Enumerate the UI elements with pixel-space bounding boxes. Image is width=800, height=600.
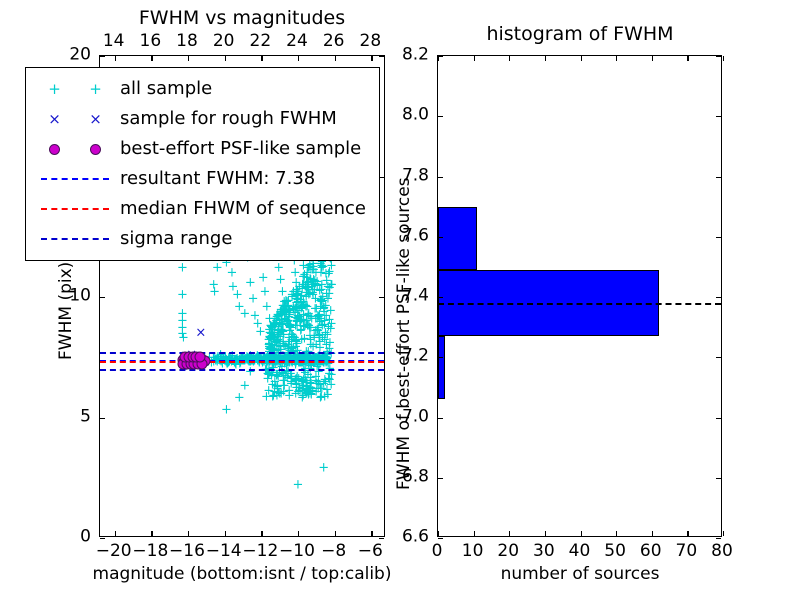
scatter-ytick-label: 20 bbox=[69, 47, 91, 64]
data-point-all-sample: + bbox=[269, 331, 280, 344]
legend-item-1: ××sample for rough FWHM bbox=[34, 104, 369, 134]
histogram-plot-area bbox=[438, 56, 721, 536]
histogram-axes bbox=[437, 55, 722, 537]
histogram-xtick bbox=[581, 56, 582, 61]
histogram-ytick bbox=[438, 177, 443, 178]
histogram-ytick-label: 6.6 bbox=[402, 529, 429, 546]
scatter-xtick-label: −8 bbox=[321, 543, 346, 560]
data-point-all-sample: + bbox=[234, 392, 245, 405]
legend-marker-dashed-line-icon bbox=[34, 194, 120, 224]
scatter-top-xtick-label: 28 bbox=[360, 33, 382, 50]
histogram-ytick bbox=[438, 478, 443, 479]
histogram-xtick bbox=[652, 56, 653, 61]
plus-icon: + bbox=[48, 82, 61, 97]
legend-marker-cross-icon: ×× bbox=[34, 104, 120, 134]
plus-icon: + bbox=[89, 82, 102, 97]
histogram-bar bbox=[438, 336, 445, 399]
histogram-xtick bbox=[581, 531, 582, 536]
histogram-ytick-label: 7.2 bbox=[402, 348, 429, 365]
histogram-ytick bbox=[438, 418, 443, 419]
dashdot-line-icon bbox=[41, 238, 109, 240]
legend-item-label: sigma range bbox=[120, 230, 232, 248]
scatter-xtick-label: −6 bbox=[358, 543, 383, 560]
scatter-reference-line-dashed bbox=[100, 361, 384, 363]
scatter-xtick-label: −10 bbox=[279, 543, 315, 560]
histogram-xaxis-label: number of sources bbox=[501, 566, 660, 583]
histogram-xtick bbox=[616, 56, 617, 61]
histogram-ytick bbox=[716, 116, 721, 117]
scatter-ytick-label: 5 bbox=[80, 408, 91, 425]
filled-circle-icon bbox=[90, 144, 101, 155]
scatter-xtick bbox=[115, 531, 116, 536]
histogram-xtick bbox=[616, 531, 617, 536]
cross-icon: × bbox=[48, 112, 61, 127]
histogram-ytick-label: 7.8 bbox=[402, 167, 429, 184]
scatter-ytick-label: 10 bbox=[69, 288, 91, 305]
histogram-xtick-label: 0 bbox=[432, 543, 443, 560]
histogram-xtick-label: 40 bbox=[569, 543, 591, 560]
histogram-reference-line bbox=[438, 303, 721, 305]
scatter-ytick bbox=[100, 297, 105, 298]
legend-marker-plus-icon: ++ bbox=[34, 74, 120, 104]
histogram-ytick-label: 8.2 bbox=[402, 47, 429, 64]
scatter-xtick bbox=[371, 531, 372, 536]
legend-item-label: median FHWM of sequence bbox=[120, 200, 366, 218]
scatter-xtick bbox=[151, 531, 152, 536]
histogram-ytick-label: 7.4 bbox=[402, 288, 429, 305]
scatter-top-xtick-label: 18 bbox=[176, 33, 198, 50]
data-point-rough-fwhm: × bbox=[195, 327, 206, 340]
scatter-xtick-label: −20 bbox=[96, 543, 132, 560]
scatter-ytick bbox=[100, 418, 105, 419]
legend-item-label: resultant FWHM: 7.38 bbox=[120, 170, 315, 188]
data-point-all-sample: + bbox=[318, 462, 329, 475]
histogram-ytick bbox=[438, 116, 443, 117]
histogram-xtick bbox=[723, 531, 724, 536]
scatter-top-xtick bbox=[151, 56, 152, 61]
scatter-top-xtick bbox=[225, 56, 226, 61]
histogram-xtick bbox=[474, 56, 475, 61]
legend-item-3: resultant FWHM: 7.38 bbox=[34, 164, 369, 194]
scatter-yaxis-label: FWHM (pix) bbox=[58, 262, 75, 360]
histogram-xtick bbox=[509, 56, 510, 61]
scatter-reference-line-dashdot bbox=[100, 352, 384, 354]
histogram-bar bbox=[438, 207, 477, 270]
cross-icon: × bbox=[89, 112, 102, 127]
scatter-xtick-label: −12 bbox=[242, 543, 278, 560]
histogram-xtick-label: 50 bbox=[604, 543, 626, 560]
histogram-xtick bbox=[474, 531, 475, 536]
scatter-top-xtick bbox=[335, 56, 336, 61]
scatter-top-xtick bbox=[371, 56, 372, 61]
data-point-all-sample: + bbox=[293, 478, 304, 491]
plot-legend: ++all sample××sample for rough FWHMbest-… bbox=[25, 67, 380, 261]
data-point-all-sample: + bbox=[263, 384, 274, 397]
scatter-xtick bbox=[335, 531, 336, 536]
histogram-xtick bbox=[509, 531, 510, 536]
scatter-xtick-label: −16 bbox=[169, 543, 205, 560]
data-point-all-sample: + bbox=[245, 365, 256, 378]
legend-item-4: median FHWM of sequence bbox=[34, 194, 369, 224]
histogram-ytick bbox=[716, 418, 721, 419]
histogram-ytick bbox=[716, 297, 721, 298]
legend-item-label: best-effort PSF-like sample bbox=[120, 140, 361, 158]
histogram-xtick bbox=[652, 531, 653, 536]
histogram-ytick-label: 6.8 bbox=[402, 468, 429, 485]
legend-item-label: all sample bbox=[120, 80, 212, 98]
histogram-ytick bbox=[716, 237, 721, 238]
scatter-top-xtick-label: 26 bbox=[323, 33, 345, 50]
data-point-all-sample: + bbox=[209, 286, 220, 299]
histogram-ytick bbox=[716, 177, 721, 178]
legend-marker-dashdot-line-icon bbox=[34, 224, 120, 254]
legend-item-label: sample for rough FWHM bbox=[120, 110, 337, 128]
scatter-top-xtick bbox=[261, 56, 262, 61]
scatter-xaxis-label: magnitude (bottom:isnt / top:calib) bbox=[93, 566, 392, 583]
scatter-top-xtick bbox=[298, 56, 299, 61]
histogram-ytick bbox=[438, 538, 443, 539]
data-point-psf-like bbox=[194, 352, 205, 363]
scatter-ytick bbox=[100, 56, 105, 57]
histogram-ytick-label: 7.0 bbox=[402, 408, 429, 425]
scatter-xtick-label: −18 bbox=[132, 543, 168, 560]
legend-item-5: sigma range bbox=[34, 224, 369, 254]
scatter-ytick bbox=[379, 56, 384, 57]
histogram-xtick-label: 30 bbox=[533, 543, 555, 560]
data-point-all-sample: + bbox=[248, 293, 259, 306]
legend-item-2: best-effort PSF-like sample bbox=[34, 134, 369, 164]
data-point-all-sample: + bbox=[258, 271, 269, 284]
scatter-ytick-label: 0 bbox=[80, 529, 91, 546]
histogram-xtick bbox=[687, 531, 688, 536]
histogram-xtick bbox=[545, 531, 546, 536]
scatter-top-xtick-label: 22 bbox=[250, 33, 272, 50]
scatter-top-xtick-label: 16 bbox=[140, 33, 162, 50]
data-point-all-sample: + bbox=[177, 262, 188, 275]
scatter-ytick bbox=[379, 538, 384, 539]
scatter-top-xtick bbox=[115, 56, 116, 61]
filled-circle-icon bbox=[49, 144, 60, 155]
histogram-xtick-label: 10 bbox=[462, 543, 484, 560]
histogram-ytick bbox=[716, 478, 721, 479]
histogram-ytick bbox=[438, 297, 443, 298]
scatter-top-xtick-label: 24 bbox=[286, 33, 308, 50]
data-point-all-sample: + bbox=[260, 286, 271, 299]
scatter-xtick bbox=[188, 531, 189, 536]
data-point-all-sample: + bbox=[255, 325, 266, 338]
histogram-xtick bbox=[687, 56, 688, 61]
histogram-ytick bbox=[438, 357, 443, 358]
scatter-top-xtick-label: 14 bbox=[103, 33, 125, 50]
histogram-ytick bbox=[438, 237, 443, 238]
histogram-ytick-label: 8.0 bbox=[402, 107, 429, 124]
scatter-plot-title: FWHM vs magnitudes bbox=[139, 9, 345, 28]
histogram-xtick bbox=[545, 56, 546, 61]
data-point-all-sample: + bbox=[284, 389, 295, 402]
scatter-ytick bbox=[379, 418, 384, 419]
scatter-reference-line-dashdot bbox=[100, 369, 384, 371]
scatter-xtick bbox=[261, 531, 262, 536]
scatter-xtick bbox=[298, 531, 299, 536]
histogram-ytick-label: 7.6 bbox=[402, 227, 429, 244]
data-point-all-sample: + bbox=[245, 276, 256, 289]
histogram-xtick bbox=[438, 531, 439, 536]
data-point-all-sample: + bbox=[178, 331, 189, 344]
legend-marker-dashed-line-icon bbox=[34, 164, 120, 194]
scatter-top-xtick bbox=[188, 56, 189, 61]
histogram-ytick bbox=[716, 56, 721, 57]
scatter-ytick bbox=[379, 297, 384, 298]
scatter-ytick bbox=[100, 538, 105, 539]
histogram-ytick bbox=[438, 56, 443, 57]
legend-item-0: ++all sample bbox=[34, 74, 369, 104]
dashed-line-icon bbox=[41, 178, 109, 180]
matplotlib-figure: ++++++++++++++++++++++++++++++++++++++++… bbox=[0, 0, 800, 600]
histogram-xtick-label: 70 bbox=[676, 543, 698, 560]
histogram-plot-title: histogram of FWHM bbox=[486, 25, 673, 44]
dashed-line-icon bbox=[41, 208, 109, 210]
scatter-xtick bbox=[225, 531, 226, 536]
histogram-ytick bbox=[716, 538, 721, 539]
data-point-all-sample: + bbox=[227, 266, 238, 279]
data-point-all-sample: + bbox=[221, 404, 232, 417]
histogram-ytick bbox=[716, 357, 721, 358]
data-point-all-sample: + bbox=[177, 288, 188, 301]
histogram-xtick-label: 80 bbox=[711, 543, 733, 560]
legend-marker-filled-circle-icon bbox=[34, 134, 120, 164]
histogram-xtick-label: 20 bbox=[497, 543, 519, 560]
histogram-xtick bbox=[723, 56, 724, 61]
scatter-top-xtick-label: 20 bbox=[213, 33, 235, 50]
scatter-xtick-label: −14 bbox=[206, 543, 242, 560]
histogram-xtick-label: 60 bbox=[640, 543, 662, 560]
